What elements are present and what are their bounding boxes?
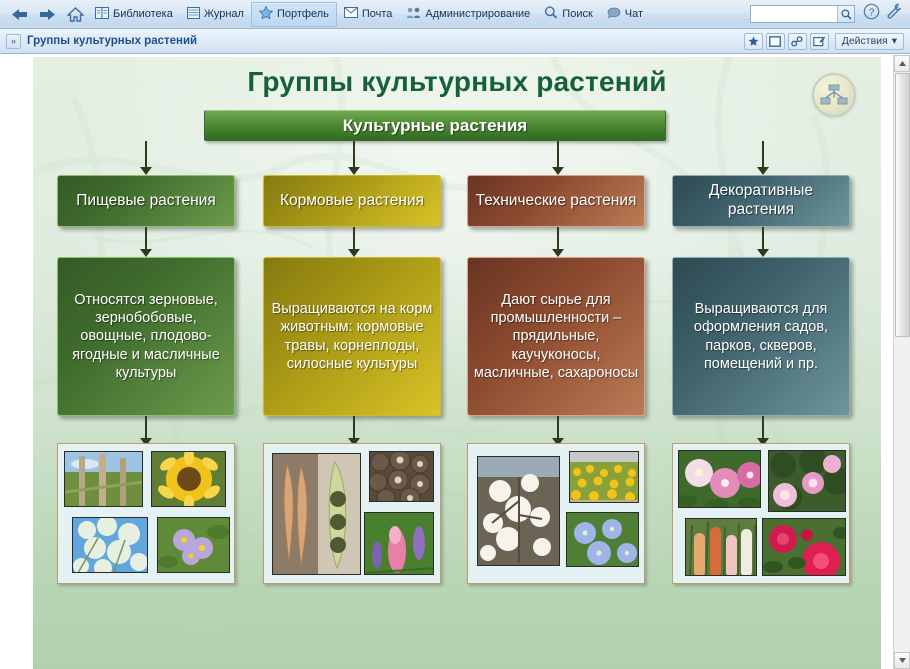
toolbar-item-portfolio[interactable]: Портфель [251,2,337,27]
journal-icon [187,7,200,22]
users-icon [406,7,421,22]
envelope-icon [344,7,358,21]
category-label: Декоративные растения [679,182,843,220]
photo-tech-1 [477,456,560,566]
toolbar-item-administration[interactable]: Администрирование [399,2,537,27]
toolbar-label: Поиск [562,8,592,20]
connector-root-deco [762,141,764,169]
toolbar-label: Библиотека [113,8,173,20]
search-box[interactable] [750,5,855,23]
description-box-food: Относятся зерновые, зернобобовые, овощны… [57,257,235,416]
connector-feed-photos [353,416,355,440]
category-box-deco: Декоративные растения [672,175,850,227]
photo-food-3 [72,517,148,573]
arrow-deco-desc [757,249,769,257]
photo-panel-deco [672,443,850,584]
slide-title: Группы культурных растений [33,66,881,98]
toolbar-label: Портфель [277,8,329,20]
category-label: Пищевые растения [76,192,215,211]
photo-deco-4 [762,518,846,576]
photo-panel-food [57,443,235,584]
arrow-feed-desc [348,249,360,257]
scroll-down-button[interactable] [894,652,910,669]
home-button[interactable] [62,2,88,26]
category-label: Технические растения [476,192,637,211]
connector-tech-desc [557,227,559,251]
expand-chevron-icon[interactable]: » [6,34,21,49]
page-title: Группы культурных растений [27,35,197,47]
photo-feed-1 [272,453,361,575]
main-toolbar: Библиотека Журнал Портфель Почта Админис… [0,0,910,29]
scroll-up-button[interactable] [894,55,910,72]
connector-food-photos [145,416,147,440]
edit-icon[interactable] [810,33,829,50]
photo-feed-2 [369,451,434,502]
chevron-down-icon: ▾ [892,35,897,47]
slide-canvas: Группы культурных растений Культурные ра… [33,57,881,669]
connector-deco-desc [762,227,764,251]
connector-deco-photos [762,416,764,440]
toolbar-right-icons: ? [863,3,910,25]
photo-tech-2 [569,451,639,503]
wrench-icon[interactable] [886,3,902,25]
arrow-root-tech [552,167,564,175]
photo-tech-3 [566,512,639,567]
photo-food-2 [151,451,226,507]
open-window-icon[interactable] [766,33,785,50]
back-button[interactable] [6,2,32,26]
description-box-deco: Выращиваются для оформления садов, парко… [672,257,850,416]
arrow-root-feed [348,167,360,175]
category-box-tech: Технические растения [467,175,645,227]
help-icon[interactable]: ? [863,3,880,25]
photo-panel-tech [467,443,645,584]
toolbar-label: Журнал [204,8,244,20]
vertical-scrollbar[interactable] [893,55,910,669]
svg-text:?: ? [869,7,875,18]
content-area: Группы культурных растений Культурные ра… [0,55,893,669]
scroll-thumb[interactable] [895,73,910,337]
connector-root-food [145,141,147,169]
breadcrumb-bar: » Группы культурных растений Действия ▾ [0,29,910,54]
link-icon[interactable] [788,33,807,50]
toolbar-nav-group [0,2,88,26]
search-submit-button[interactable] [837,6,854,22]
connector-tech-photos [557,416,559,440]
root-node-label: Культурные растения [343,116,527,136]
arrow-food-desc [140,249,152,257]
connector-root-tech [557,141,559,169]
description-box-tech: Дают сырье для промышленности – прядильн… [467,257,645,416]
magnifier-icon [544,6,558,22]
photo-feed-3 [364,512,434,575]
actions-label: Действия [842,35,888,47]
photo-deco-3 [685,518,757,576]
category-box-food: Пищевые растения [57,175,235,227]
description-text: Выращиваются на корм животным: кормовые … [269,300,435,373]
toolbar-item-library[interactable]: Библиотека [88,2,180,27]
arrow-root-food [140,167,152,175]
toolbar-item-chat[interactable]: Чат [600,2,650,27]
category-box-feed: Кормовые растения [263,175,441,227]
toolbar-item-search[interactable]: Поиск [537,2,599,27]
connector-feed-desc [353,227,355,251]
star-icon [259,6,273,22]
actions-dropdown[interactable]: Действия ▾ [835,33,904,50]
root-node: Культурные растения [204,110,666,141]
forward-button[interactable] [34,2,60,26]
description-text: Выращиваются для оформления садов, парко… [678,300,844,373]
description-text: Относятся зерновые, зернобобовые, овощны… [63,291,229,382]
favorite-star-icon[interactable] [744,33,763,50]
toolbar-item-journal[interactable]: Журнал [180,2,251,27]
connector-root-feed [353,141,355,169]
toolbar-item-mail[interactable]: Почта [337,2,400,27]
arrow-tech-desc [552,249,564,257]
book-icon [95,7,109,22]
photo-deco-2 [768,450,846,512]
description-box-feed: Выращиваются на корм животным: кормовые … [263,257,441,416]
description-text: Дают сырье для промышленности – прядильн… [473,291,639,382]
chat-bubble-icon [607,7,621,22]
photo-food-1 [64,451,143,507]
toolbar-label: Администрирование [425,8,530,20]
toolbar-label: Почта [362,8,393,20]
breadcrumb-actions: Действия ▾ [744,33,904,50]
category-label: Кормовые растения [280,192,424,211]
search-input[interactable] [751,6,837,22]
hierarchy-diagram-icon [812,73,856,117]
connector-food-desc [145,227,147,251]
photo-panel-feed [263,443,441,584]
arrow-root-deco [757,167,769,175]
photo-deco-1 [678,450,761,508]
toolbar-label: Чат [625,8,643,20]
photo-food-4 [157,517,230,573]
